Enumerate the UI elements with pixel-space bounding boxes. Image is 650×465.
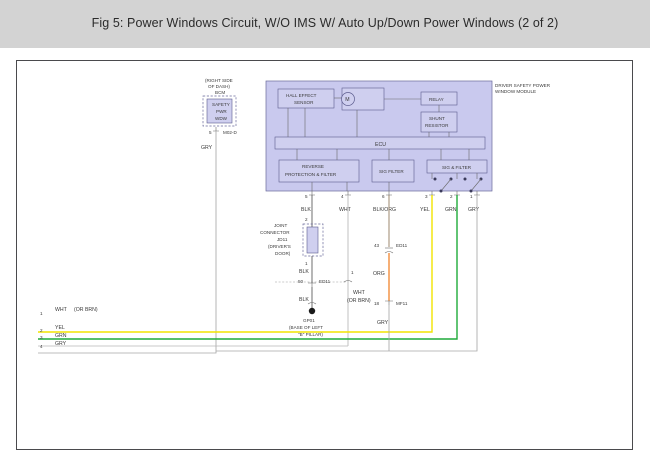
reverse-line1: REVERSE (302, 164, 324, 169)
org-top-connector: ED11 (396, 243, 408, 248)
org-wire-label: ORG (373, 271, 385, 277)
switch-contact-3 (464, 178, 467, 181)
wht-branch-pin: 1 (351, 270, 354, 275)
org-bottom-splice-symbol (385, 301, 393, 305)
hall-sensor-line2: SENSOR (294, 100, 314, 105)
org-top-pin: 43 (374, 243, 380, 248)
legend-pin-2: 2 (40, 328, 43, 333)
org-top-arc (385, 252, 393, 254)
bcm-location-line2: OF DASH) (208, 84, 230, 89)
bcm-group: (RIGHT SIDE OF DASH) BCM SAFETY PWR WDW … (201, 78, 237, 346)
joint-connector-group: JOINT CONNECTOR JD11 (DRIVER'S DOOR) 2 1… (260, 217, 331, 314)
shunt-resistor-box (421, 112, 457, 132)
pin-symbol-4 (345, 191, 351, 195)
ground-desc-line1: (BASE OF LEFT (289, 325, 323, 330)
wire-label-blk-top: BLK (301, 207, 311, 213)
ground-symbol (309, 308, 315, 314)
legend-name-1: WHT (55, 307, 68, 313)
module-title-line1: DRIVER SAFETY POWER (495, 83, 551, 88)
wire-label-yel: YEL (420, 207, 430, 213)
splice-pin-number: 50 (298, 279, 304, 284)
org-branch-group: 43 ED11 ORG 18 MF11 GRY (373, 243, 408, 351)
ground-desc-line2: "B" PILLAR) (298, 332, 323, 337)
bcm-fuse-line3: WDW (215, 116, 228, 121)
pin-number-6: 6 (382, 194, 385, 199)
diagram-canvas: (RIGHT SIDE OF DASH) BCM SAFETY PWR WDW … (16, 60, 633, 450)
bottom-bus-group (38, 346, 477, 353)
bcm-pin-symbol (213, 127, 219, 131)
wire-label-blk-bottom: BLK (299, 297, 309, 303)
pin-symbol-1 (474, 191, 480, 195)
bcm-name: BCM (215, 90, 225, 95)
safety-window-module: DRIVER SAFETY POWER WINDOW MODULE HALL E… (266, 81, 551, 193)
wire-grn-to-legend (38, 195, 457, 339)
pin-symbol-2 (454, 191, 460, 195)
legend-name-2: YEL (55, 325, 65, 331)
legend-pin-4: 4 (40, 344, 43, 349)
pin-symbol-6 (386, 191, 392, 195)
org-below-wire-label: GRY (377, 320, 389, 326)
motor-label: M (345, 97, 349, 103)
wire-legend-group: 1 WHT (OR BRN) 2 YEL 3 GRN 4 GRY (40, 307, 98, 349)
wht-branch-line2: (OR BRN) (347, 298, 371, 304)
diagram-page: Fig 5: Power Windows Circuit, W/O IMS W/… (0, 0, 650, 465)
module-title-line2: WINDOW MODULE (495, 89, 536, 94)
org-bottom-pin: 18 (374, 301, 380, 306)
joint-connector-body (307, 227, 318, 253)
legend-alt-1: (OR BRN) (74, 307, 98, 313)
bcm-fuse-line2: PWR (216, 109, 227, 114)
wire-label-blk-mid: BLK (299, 269, 309, 275)
pin-number-2: 2 (450, 194, 453, 199)
pin-number-5: 5 (305, 194, 308, 199)
pin-number-4: 4 (341, 194, 344, 199)
joint-label-line1: JOINT (274, 223, 287, 228)
ground-label-group: GP01 (BASE OF LEFT "B" PILLAR) (289, 318, 323, 337)
pin-number-3: 3 (425, 194, 428, 199)
wire-label-grn: GRN (445, 207, 457, 213)
module-output-pins: 5 BLK 4 WHT 6 BLK/ORG 3 YEL (38, 191, 480, 346)
bcm-pin-number: 5 (209, 130, 212, 135)
joint-label-line2: CONNECTOR (260, 230, 290, 235)
joint-label-line3: JD11 (277, 237, 288, 242)
wire-label-blkorg: BLK/ORG (373, 207, 396, 213)
joint-label-line5: DOOR) (275, 251, 291, 256)
joint-bottom-pin: 1 (305, 261, 308, 266)
legend-pin-3: 3 (40, 335, 43, 340)
sig-and-filter-label: SIG & FILTER (442, 165, 472, 170)
splice-symbol (308, 283, 316, 287)
wiring-diagram: (RIGHT SIDE OF DASH) BCM SAFETY PWR WDW … (17, 61, 632, 449)
ecu-label: ECU (375, 142, 386, 148)
wire-label-gry-module: GRY (468, 207, 480, 213)
joint-top-pin: 2 (305, 217, 308, 222)
wire-label-wht: WHT (339, 207, 352, 213)
sig-filter-label: SIG FILTER (379, 169, 404, 174)
bcm-fuse-line1: SAFETY (212, 102, 230, 107)
org-bottom-connector: MF11 (396, 301, 408, 306)
joint-label-line4: (DRIVER'S (268, 244, 291, 249)
switch-contact-1 (434, 178, 437, 181)
relay-label: RELAY (429, 97, 444, 102)
hall-sensor-line1: HALL EFFECT (286, 93, 317, 98)
hall-effect-sensor-box (278, 89, 334, 108)
switch-pivot-1 (440, 190, 443, 193)
shunt-line2: RESISTOR (425, 123, 449, 128)
page-title: Fig 5: Power Windows Circuit, W/O IMS W/… (0, 16, 650, 30)
pin-symbol-5 (309, 191, 315, 195)
bus-gry-link (389, 346, 477, 351)
bcm-connector-id: M02-D (223, 130, 237, 135)
wht-branch-group: 1 WHT (OR BRN) (275, 270, 371, 304)
ground-id: GP01 (303, 318, 315, 323)
bcm-location-line1: (RIGHT SIDE (205, 78, 233, 83)
wht-branch-line1: WHT (353, 290, 366, 296)
switch-pivot-2 (470, 190, 473, 193)
pin-symbol-3 (429, 191, 435, 195)
legend-name-3: GRN (55, 333, 67, 339)
bus-gry-to-legend (38, 351, 216, 353)
shunt-line1: SHUNT (429, 116, 445, 121)
reverse-line2: PROTECTION & FILTER (285, 172, 337, 177)
splice-connector-id: ED11 (319, 279, 331, 284)
bcm-wire-label: GRY (201, 145, 213, 151)
legend-pin-1: 1 (40, 311, 43, 316)
legend-name-4: GRY (55, 341, 67, 347)
pin-number-1: 1 (470, 194, 473, 199)
